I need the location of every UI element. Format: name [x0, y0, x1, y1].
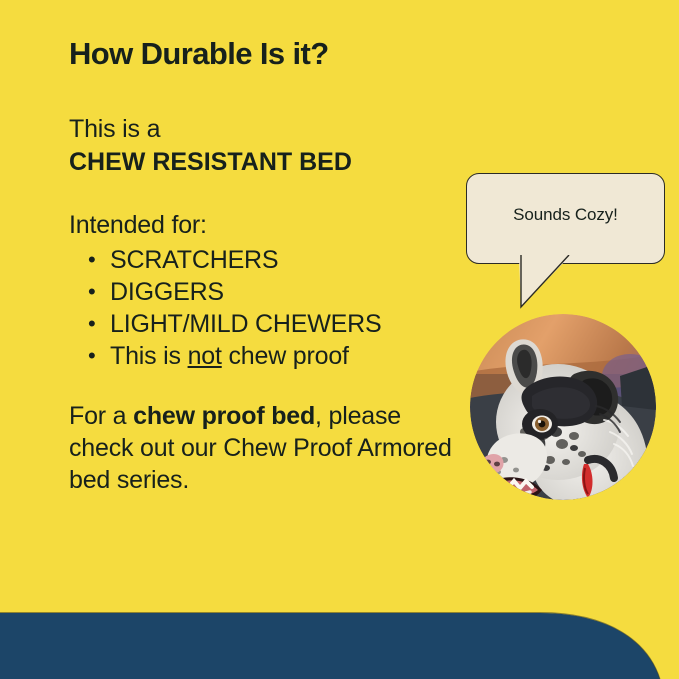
list-item-prefix: This is	[110, 342, 188, 370]
list-item-label: DIGGERS	[110, 276, 224, 308]
speech-bubble: Sounds Cozy!	[466, 173, 665, 264]
list-item-label: LIGHT/MILD CHEWERS	[110, 308, 381, 340]
speech-bubble-tail-icon	[505, 255, 585, 317]
dog-illustration-icon	[470, 314, 656, 500]
intended-for-label: Intended for:	[69, 211, 207, 240]
list-item-suffix: chew proof	[222, 342, 349, 370]
dog-photo-avatar	[470, 314, 656, 500]
note-part-1: For a	[69, 402, 133, 430]
list-item: • LIGHT/MILD CHEWERS	[88, 308, 381, 340]
intro-block: This is a CHEW RESISTANT BED	[69, 113, 352, 179]
list-item-emphasis: not	[188, 342, 222, 370]
list-item: • SCRATCHERS	[88, 244, 381, 276]
list-item: • DIGGERS	[88, 276, 381, 308]
product-type-label: CHEW RESISTANT BED	[69, 146, 352, 179]
list-item: • This is not chew proof	[88, 340, 381, 372]
bullet-icon: •	[88, 244, 110, 276]
list-item-label: SCRATCHERS	[110, 244, 278, 276]
bullet-icon: •	[88, 340, 110, 372]
chew-proof-note: For a chew proof bed, please check out o…	[69, 400, 469, 496]
bottom-navy-band	[0, 612, 679, 679]
speech-bubble-text: Sounds Cozy!	[467, 205, 664, 225]
infographic-canvas: How Durable Is it? This is a CHEW RESIST…	[0, 0, 679, 679]
list-item-label: This is not chew proof	[110, 340, 349, 372]
intended-for-list: • SCRATCHERS • DIGGERS • LIGHT/MILD CHEW…	[88, 244, 381, 372]
bullet-icon: •	[88, 308, 110, 340]
bullet-icon: •	[88, 276, 110, 308]
intro-line-1: This is a	[69, 115, 160, 143]
note-emphasis: chew proof bed	[133, 402, 315, 430]
page-title: How Durable Is it?	[69, 36, 329, 72]
